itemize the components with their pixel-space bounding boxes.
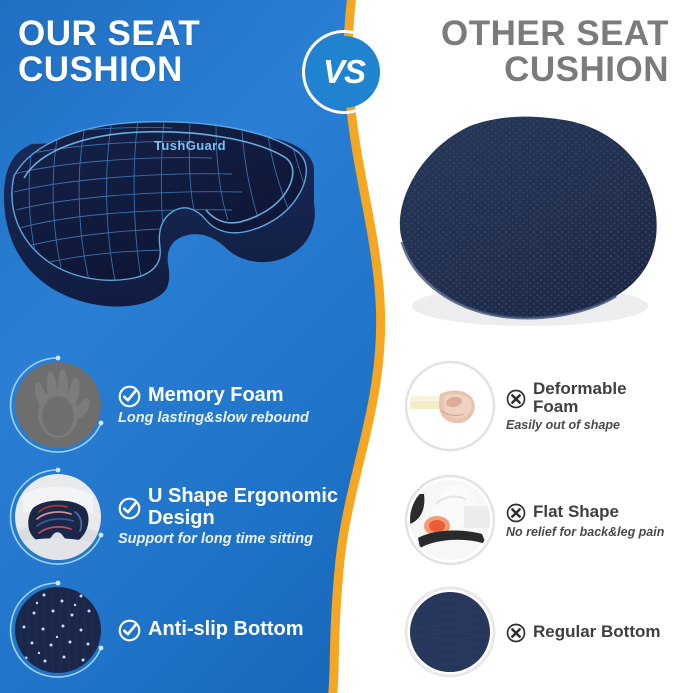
vs-badge-core: VS (308, 36, 380, 108)
feature-row-anti-slip: Anti-slip Bottom (8, 577, 358, 682)
thumb-image-anti-slip-dotted-fabric (15, 587, 101, 673)
thumb-anti-slip (8, 580, 108, 680)
feature-subtitle-memory-foam: Long lasting&slow rebound (118, 410, 309, 426)
feature-title-memory-foam: Memory Foam (118, 384, 309, 408)
thumb-image-plain-navy-fabric (410, 592, 490, 672)
feature-title-flat-shape: Flat Shape (506, 502, 664, 523)
vs-label: VS (323, 53, 365, 91)
feature-title-label: Memory Foam (148, 385, 284, 407)
x-circle-icon (506, 623, 526, 643)
feature-row-memory-foam: Memory Foam Long lasting&slow rebound (8, 352, 358, 457)
feature-text-regular-bottom: Regular Bottom (506, 622, 661, 643)
check-circle-icon (118, 497, 141, 520)
feature-title-regular-bottom: Regular Bottom (506, 622, 661, 643)
right-product-image (378, 110, 668, 335)
right-title-line-1: OTHER SEAT (369, 16, 669, 52)
product-brand-label: TushGuard (154, 138, 226, 153)
feature-row-flat-shape: Flat Shape No relief for back&leg pain (404, 470, 676, 570)
thumb-flat-shape (404, 474, 496, 566)
feature-title-label: U Shape Ergonomic Design (148, 486, 358, 529)
thumb-image-back-pain-sitting (410, 480, 490, 560)
x-circle-icon (506, 503, 526, 523)
thumb-image-u-shape-cushion-on-chair (15, 474, 101, 560)
page-title-right: OTHER SEAT CUSHION (369, 16, 669, 87)
left-product-image: TushGuard (0, 108, 322, 343)
vs-badge: VS (302, 30, 386, 114)
feature-text-u-shape: U Shape Ergonomic Design Support for lon… (118, 486, 358, 547)
feature-text-flat-shape: Flat Shape No relief for back&leg pain (506, 502, 664, 539)
check-circle-icon (118, 619, 141, 642)
right-title-line-2: CUSHION (369, 52, 669, 88)
feature-subtitle-deformable-foam: Easily out of shape (506, 418, 676, 432)
left-title-line-1: OUR SEAT (18, 16, 318, 52)
feature-title-label: Anti-slip Bottom (148, 619, 304, 641)
feature-row-u-shape: U Shape Ergonomic Design Support for lon… (8, 464, 358, 569)
feature-subtitle-u-shape: Support for long time sitting (118, 531, 358, 547)
feature-subtitle-flat-shape: No relief for back&leg pain (506, 525, 664, 539)
thumb-image-hand-print-foam (15, 362, 101, 448)
thumb-regular-bottom (404, 586, 496, 678)
feature-title-anti-slip: Anti-slip Bottom (118, 618, 304, 642)
comparison-infographic: OUR SEAT CUSHION OTHER SEAT CUSHION VS (0, 0, 679, 693)
feature-title-label: Regular Bottom (533, 623, 661, 641)
feature-title-label: Deformable Foam (533, 380, 676, 417)
x-circle-icon (506, 389, 526, 409)
thumb-image-hand-squeezing-foam (410, 366, 490, 446)
feature-text-memory-foam: Memory Foam Long lasting&slow rebound (118, 384, 309, 426)
feature-title-label: Flat Shape (533, 503, 619, 521)
feature-row-deformable-foam: Deformable Foam Easily out of shape (404, 356, 676, 456)
thumb-memory-foam (8, 355, 108, 455)
feature-text-anti-slip: Anti-slip Bottom (118, 618, 304, 642)
page-title-left: OUR SEAT CUSHION (18, 16, 318, 87)
left-title-line-2: CUSHION (18, 52, 318, 88)
feature-text-deformable-foam: Deformable Foam Easily out of shape (506, 380, 676, 433)
feature-row-regular-bottom: Regular Bottom (404, 582, 676, 682)
feature-title-u-shape: U Shape Ergonomic Design (118, 486, 358, 529)
thumb-deformable-foam (404, 360, 496, 452)
feature-title-deformable-foam: Deformable Foam (506, 380, 676, 417)
thumb-u-shape (8, 467, 108, 567)
check-circle-icon (118, 385, 141, 408)
